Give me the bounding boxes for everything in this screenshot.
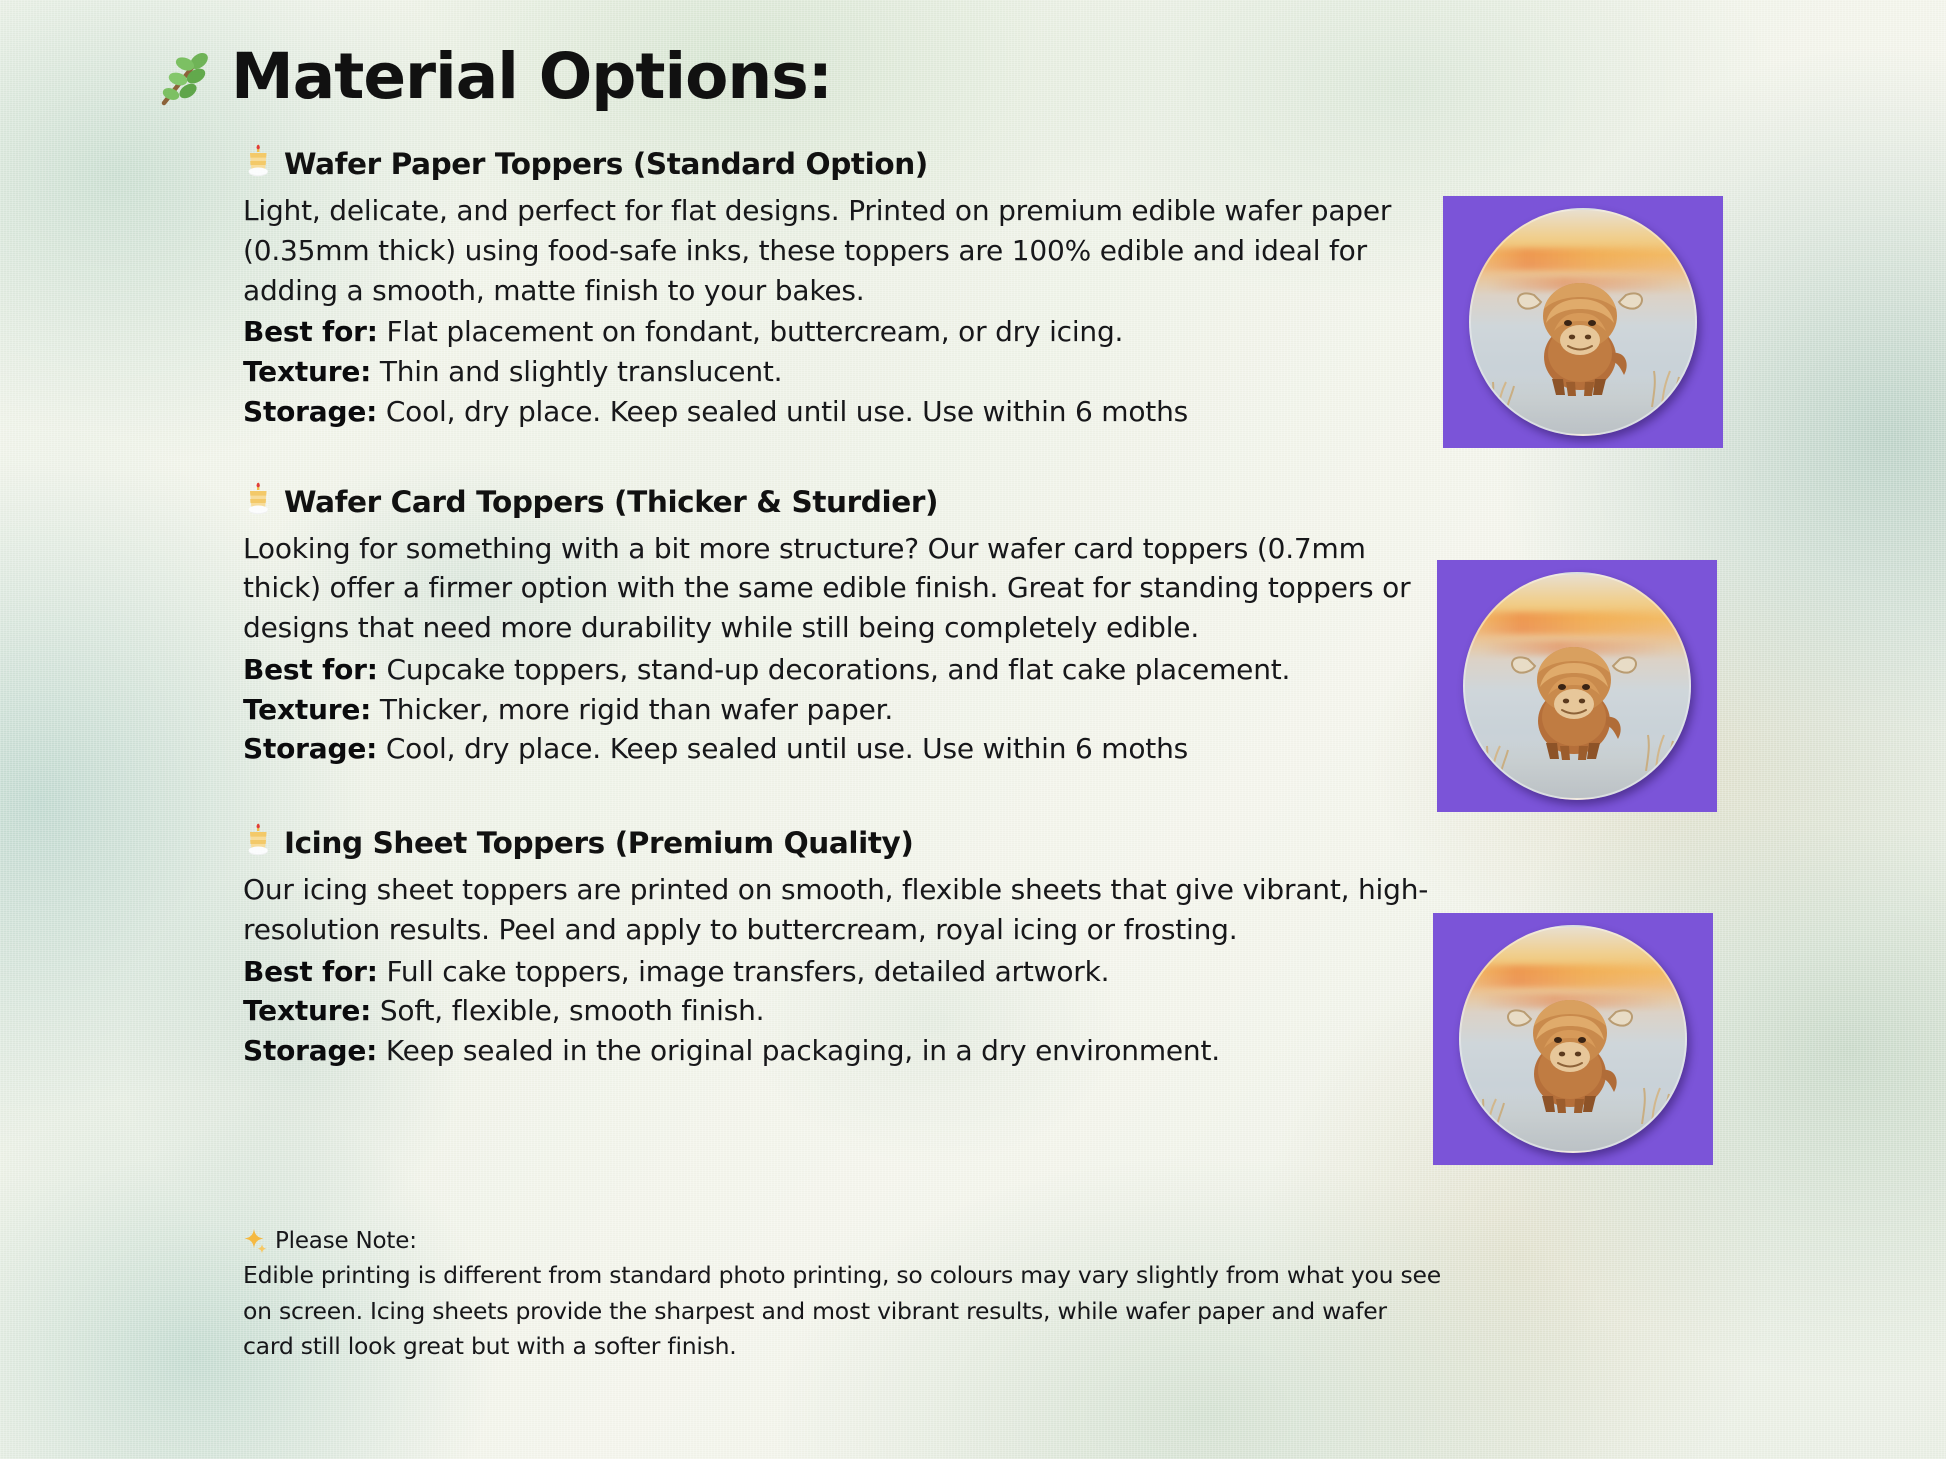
herb-branch-icon (155, 48, 217, 110)
cake-topper-disc (1469, 208, 1697, 436)
grass-tuft-icon (1638, 725, 1676, 771)
product-image-1 (1443, 196, 1723, 448)
best-for-value: Full cake toppers, image transfers, deta… (386, 955, 1109, 988)
section-heading-text: Wafer Paper Toppers (Standard Option) (284, 147, 928, 181)
texture-label: Texture: (243, 693, 371, 726)
section-texture: Texture: Thicker, more rigid than wafer … (243, 690, 1433, 730)
section-paragraph: Looking for something with a bit more st… (243, 529, 1433, 648)
best-for-label: Best for: (243, 955, 378, 988)
texture-label: Texture: (243, 355, 371, 388)
best-for-value: Cupcake toppers, stand-up decorations, a… (386, 653, 1290, 686)
grass-tuft-icon (1644, 361, 1682, 407)
section-wafer-paper: Wafer Paper Toppers (Standard Option) Li… (243, 140, 1433, 432)
section-icing-sheet: Icing Sheet Toppers (Premium Quality) Ou… (243, 819, 1433, 1071)
storage-value: Cool, dry place. Keep sealed until use. … (386, 395, 1188, 428)
section-best-for: Best for: Cupcake toppers, stand-up deco… (243, 650, 1433, 690)
section-heading-row: Icing Sheet Toppers (Premium Quality) (243, 819, 1433, 860)
section-heading-text: Wafer Card Toppers (Thicker & Sturdier) (284, 485, 938, 519)
section-texture: Texture: Thin and slightly translucent. (243, 352, 1433, 392)
page-title-text: Material Options: (231, 45, 832, 108)
texture-value: Soft, flexible, smooth finish. (380, 994, 765, 1027)
best-for-label: Best for: (243, 653, 378, 686)
product-image-3 (1433, 913, 1713, 1165)
section-texture: Texture: Soft, flexible, smooth finish. (243, 991, 1433, 1031)
section-paragraph: Our icing sheet toppers are printed on s… (243, 870, 1433, 950)
section-wafer-card: Wafer Card Toppers (Thicker & Sturdier) … (243, 478, 1433, 770)
highland-cow-illustration (1502, 625, 1652, 761)
section-storage: Storage: Cool, dry place. Keep sealed un… (243, 729, 1433, 769)
product-image-2 (1437, 560, 1717, 812)
content-column: Wafer Paper Toppers (Standard Option) Li… (243, 140, 1433, 1071)
section-heading-text: Icing Sheet Toppers (Premium Quality) (284, 826, 913, 860)
section-paragraph: Light, delicate, and perfect for flat de… (243, 191, 1433, 310)
section-storage: Storage: Keep sealed in the original pac… (243, 1031, 1433, 1071)
texture-value: Thin and slightly translucent. (380, 355, 783, 388)
texture-label: Texture: (243, 994, 371, 1027)
grass-tuft-icon (1478, 736, 1512, 776)
section-storage: Storage: Cool, dry place. Keep sealed un… (243, 392, 1433, 432)
page-title: Material Options: (155, 42, 832, 110)
storage-label: Storage: (243, 395, 377, 428)
section-heading-row: Wafer Card Toppers (Thicker & Sturdier) (243, 478, 1433, 519)
grass-tuft-icon (1484, 372, 1518, 412)
cake-slice-icon (243, 144, 273, 178)
highland-cow-illustration (1498, 978, 1648, 1114)
storage-value: Keep sealed in the original packaging, i… (386, 1034, 1220, 1067)
cake-topper-disc (1463, 572, 1691, 800)
please-note-heading-row: Please Note: (243, 1228, 1443, 1254)
section-best-for: Best for: Flat placement on fondant, but… (243, 312, 1433, 352)
please-note-block: Please Note: Edible printing is differen… (243, 1228, 1443, 1365)
please-note-heading-text: Please Note: (275, 1228, 417, 1254)
best-for-label: Best for: (243, 315, 378, 348)
sparkles-icon (243, 1228, 267, 1254)
cake-slice-icon (243, 823, 273, 857)
storage-label: Storage: (243, 732, 377, 765)
storage-label: Storage: (243, 1034, 377, 1067)
section-best-for: Best for: Full cake toppers, image trans… (243, 952, 1433, 992)
best-for-value: Flat placement on fondant, buttercream, … (386, 315, 1123, 348)
grass-tuft-icon (1474, 1089, 1508, 1129)
texture-value: Thicker, more rigid than wafer paper. (380, 693, 893, 726)
section-heading-row: Wafer Paper Toppers (Standard Option) (243, 140, 1433, 181)
grass-tuft-icon (1634, 1078, 1672, 1124)
cake-topper-disc (1459, 925, 1687, 1153)
cake-slice-icon (243, 482, 273, 516)
page-root: Material Options: Wafer Paper Toppers (S… (0, 0, 1946, 1459)
highland-cow-illustration (1508, 261, 1658, 397)
please-note-body: Edible printing is different from standa… (243, 1258, 1443, 1365)
storage-value: Cool, dry place. Keep sealed until use. … (386, 732, 1188, 765)
